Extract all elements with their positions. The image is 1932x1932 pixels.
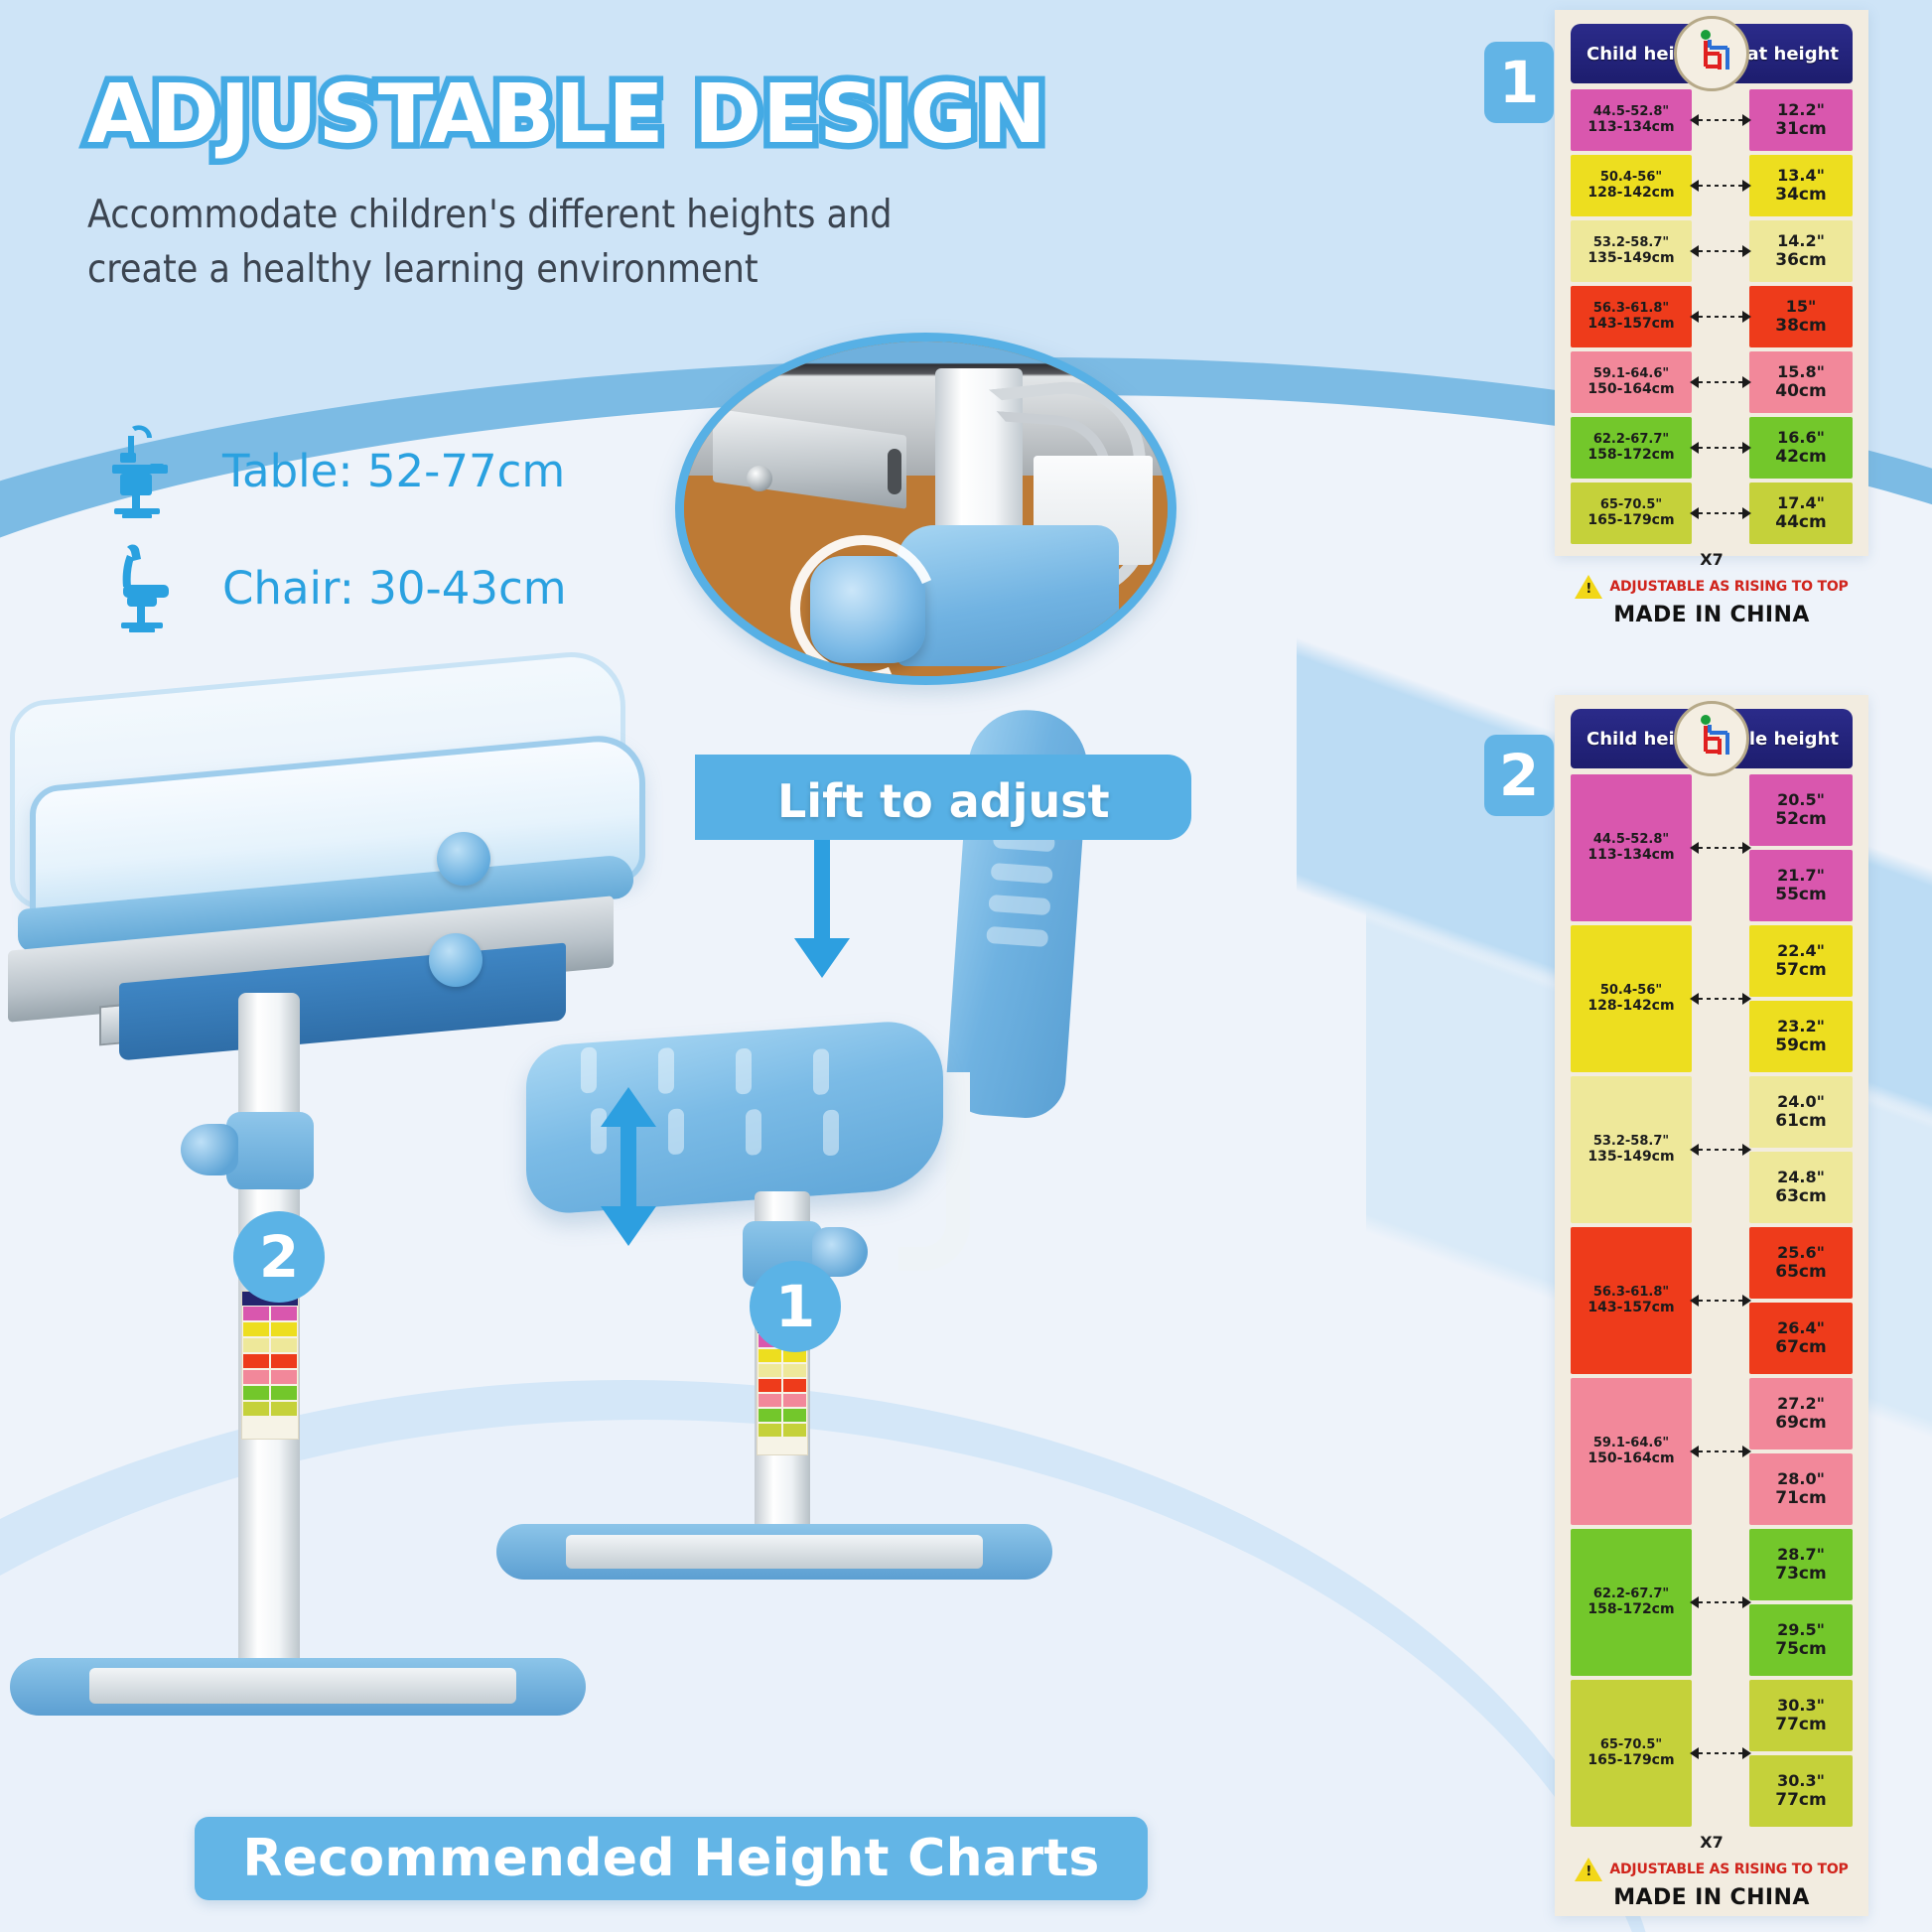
double-arrow-icon bbox=[1692, 1076, 1749, 1223]
chair-foot-bar-inner bbox=[566, 1535, 983, 1569]
feature-label-chair: Chair: 30-43cm bbox=[222, 562, 567, 615]
chart-1-child-column: 44.5-52.8"113-134cm50.4-56"128-142cm53.2… bbox=[1571, 89, 1692, 548]
chart-cell: 56.3-61.8"143-157cm bbox=[1571, 286, 1692, 347]
chart-cell: 26.4"67cm bbox=[1749, 1303, 1853, 1374]
height-chart-table: Child height Table height 44.5-52.8"113-… bbox=[1555, 695, 1868, 1916]
chart-cell: 23.2"59cm bbox=[1749, 1001, 1853, 1072]
chart-cell: 16.6"42cm bbox=[1749, 417, 1853, 479]
chart-cell: 53.2-58.7"135-149cm bbox=[1571, 220, 1692, 282]
feature-label-table: Table: 52-77cm bbox=[222, 445, 565, 497]
chart-2-arrow-column bbox=[1692, 774, 1749, 1831]
height-chart-seat: Child height Seat height 44.5-52.8"113-1… bbox=[1555, 10, 1868, 556]
chart-cell: 53.2-58.7"135-149cm bbox=[1571, 1076, 1692, 1223]
chart-cell: 20.5"52cm bbox=[1749, 774, 1853, 846]
page-title: ADJUSTABLE DESIGN bbox=[87, 68, 1179, 162]
infographic-root: ADJUSTABLE DESIGN Accommodate children's… bbox=[0, 0, 1932, 1932]
chart-cell: 28.7"73cm bbox=[1749, 1529, 1853, 1600]
bottom-banner: Recommended Height Charts bbox=[195, 1817, 1148, 1900]
chart-cell: 59.1-64.6"150-164cm bbox=[1571, 351, 1692, 413]
double-arrow-icon bbox=[1692, 351, 1749, 413]
child-seated-desk-icon bbox=[1674, 701, 1749, 776]
chart-cell: 65-70.5"165-179cm bbox=[1571, 1680, 1692, 1827]
chair-icon bbox=[91, 541, 199, 634]
chart-2-origin: MADE IN CHINA bbox=[1571, 1885, 1853, 1910]
chart-cell: 30.3"77cm bbox=[1749, 1755, 1853, 1827]
chart-cell: 15"38cm bbox=[1749, 286, 1853, 347]
chart-1-footer: ADJUSTABLE AS RISING TO TOP MADE IN CHIN… bbox=[1571, 575, 1853, 627]
step-number-1: 1 bbox=[1484, 42, 1554, 123]
double-arrow-icon bbox=[1692, 483, 1749, 544]
chart-cell: 24.0"61cm bbox=[1749, 1076, 1853, 1148]
chart-1-body: 44.5-52.8"113-134cm50.4-56"128-142cm53.2… bbox=[1571, 89, 1853, 548]
flower-knob-icon-lower bbox=[429, 933, 483, 987]
chart-1-multiplier: X7 bbox=[1571, 550, 1853, 569]
warning-triangle-icon bbox=[1575, 1858, 1602, 1881]
lift-to-adjust-photo bbox=[675, 333, 1176, 685]
chart-cell: 56.3-61.8"143-157cm bbox=[1571, 1227, 1692, 1374]
chart-cell: 28.0"71cm bbox=[1749, 1453, 1853, 1525]
double-arrow-icon bbox=[1692, 925, 1749, 1072]
chart-2-footer: ADJUSTABLE AS RISING TO TOP MADE IN CHIN… bbox=[1571, 1858, 1853, 1910]
bottom-banner-label: Recommended Height Charts bbox=[242, 1829, 1099, 1888]
chart-cell: 44.5-52.8"113-134cm bbox=[1571, 89, 1692, 151]
double-arrow-icon bbox=[1692, 1227, 1749, 1374]
chart-2-body: 44.5-52.8"113-134cm50.4-56"128-142cm53.2… bbox=[1571, 774, 1853, 1831]
chart-cell: 12.2"31cm bbox=[1749, 89, 1853, 151]
chart-cell: 65-70.5"165-179cm bbox=[1571, 483, 1692, 544]
page-subtitle: Accommodate children's different heights… bbox=[87, 188, 1001, 298]
double-arrow-icon bbox=[1692, 1529, 1749, 1676]
adjustment-slot bbox=[888, 449, 901, 494]
screw-icon bbox=[747, 466, 772, 491]
chart-cell: 62.2-67.7"158-172cm bbox=[1571, 417, 1692, 479]
chart-cell: 14.2"36cm bbox=[1749, 220, 1853, 282]
desk-adjust-knob bbox=[181, 1124, 238, 1175]
double-arrow-icon bbox=[1692, 417, 1749, 479]
photo-badge-1: 1 bbox=[750, 1261, 841, 1352]
chart-cell: 22.4"57cm bbox=[1749, 925, 1853, 997]
chart-cell: 17.4"44cm bbox=[1749, 483, 1853, 544]
chart-2-child-column: 44.5-52.8"113-134cm50.4-56"128-142cm53.2… bbox=[1571, 774, 1692, 1831]
desk-leg-collar bbox=[226, 1112, 314, 1189]
double-arrow-icon bbox=[1692, 1680, 1749, 1827]
feature-item-chair: Chair: 30-43cm bbox=[91, 529, 567, 646]
chart-1-header: Child height Seat height bbox=[1571, 24, 1853, 83]
chart-1-origin: MADE IN CHINA bbox=[1571, 603, 1853, 627]
desk-foot-bar-inner bbox=[89, 1668, 516, 1704]
chart-1-warning: ADJUSTABLE AS RISING TO TOP bbox=[1609, 579, 1848, 595]
step-number-2: 2 bbox=[1484, 735, 1554, 816]
chart-cell: 30.3"77cm bbox=[1749, 1680, 1853, 1751]
feature-item-table: Table: 52-77cm bbox=[91, 412, 567, 529]
chart-cell: 24.8"63cm bbox=[1749, 1152, 1853, 1223]
chart-2-warning: ADJUSTABLE AS RISING TO TOP bbox=[1609, 1862, 1848, 1877]
chart-cell: 29.5"75cm bbox=[1749, 1604, 1853, 1676]
seat-height-arrow-icon bbox=[601, 1087, 656, 1246]
chart-cell: 59.1-64.6"150-164cm bbox=[1571, 1378, 1692, 1525]
double-arrow-icon bbox=[1692, 286, 1749, 347]
chart-2-header: Child height Table height bbox=[1571, 709, 1853, 768]
header: ADJUSTABLE DESIGN Accommodate children's… bbox=[87, 68, 1179, 298]
flower-knob-icon-upper bbox=[437, 832, 490, 886]
desk-height-sticker bbox=[241, 1291, 299, 1440]
chart-2-multiplier: X7 bbox=[1571, 1833, 1853, 1852]
chart-cell: 25.6"65cm bbox=[1749, 1227, 1853, 1299]
photo-badge-2: 2 bbox=[233, 1211, 325, 1303]
callout-label: Lift to adjust bbox=[777, 774, 1110, 828]
chart-cell: 13.4"34cm bbox=[1749, 155, 1853, 216]
double-arrow-icon bbox=[1692, 155, 1749, 216]
feature-list: Table: 52-77cm Chair: 30-43cm bbox=[91, 412, 567, 646]
chart-2-value-column: 20.5"52cm21.7"55cm22.4"57cm23.2"59cm24.0… bbox=[1749, 774, 1853, 1831]
chart-1-arrow-column bbox=[1692, 89, 1749, 548]
double-arrow-icon bbox=[1692, 1378, 1749, 1525]
double-arrow-icon bbox=[1692, 774, 1749, 921]
double-arrow-icon bbox=[1692, 220, 1749, 282]
chart-cell: 15.8"40cm bbox=[1749, 351, 1853, 413]
chart-1-value-column: 12.2"31cm13.4"34cm14.2"36cm15"38cm15.8"4… bbox=[1749, 89, 1853, 548]
desk-icon bbox=[91, 423, 199, 518]
child-seated-chair-icon bbox=[1674, 16, 1749, 91]
chart-cell: 21.7"55cm bbox=[1749, 850, 1853, 921]
double-arrow-icon bbox=[1692, 89, 1749, 151]
chart-cell: 44.5-52.8"113-134cm bbox=[1571, 774, 1692, 921]
warning-triangle-icon bbox=[1575, 575, 1602, 599]
chart-cell: 50.4-56"128-142cm bbox=[1571, 155, 1692, 216]
chart-cell: 62.2-67.7"158-172cm bbox=[1571, 1529, 1692, 1676]
chart-cell: 50.4-56"128-142cm bbox=[1571, 925, 1692, 1072]
chart-cell: 27.2"69cm bbox=[1749, 1378, 1853, 1449]
